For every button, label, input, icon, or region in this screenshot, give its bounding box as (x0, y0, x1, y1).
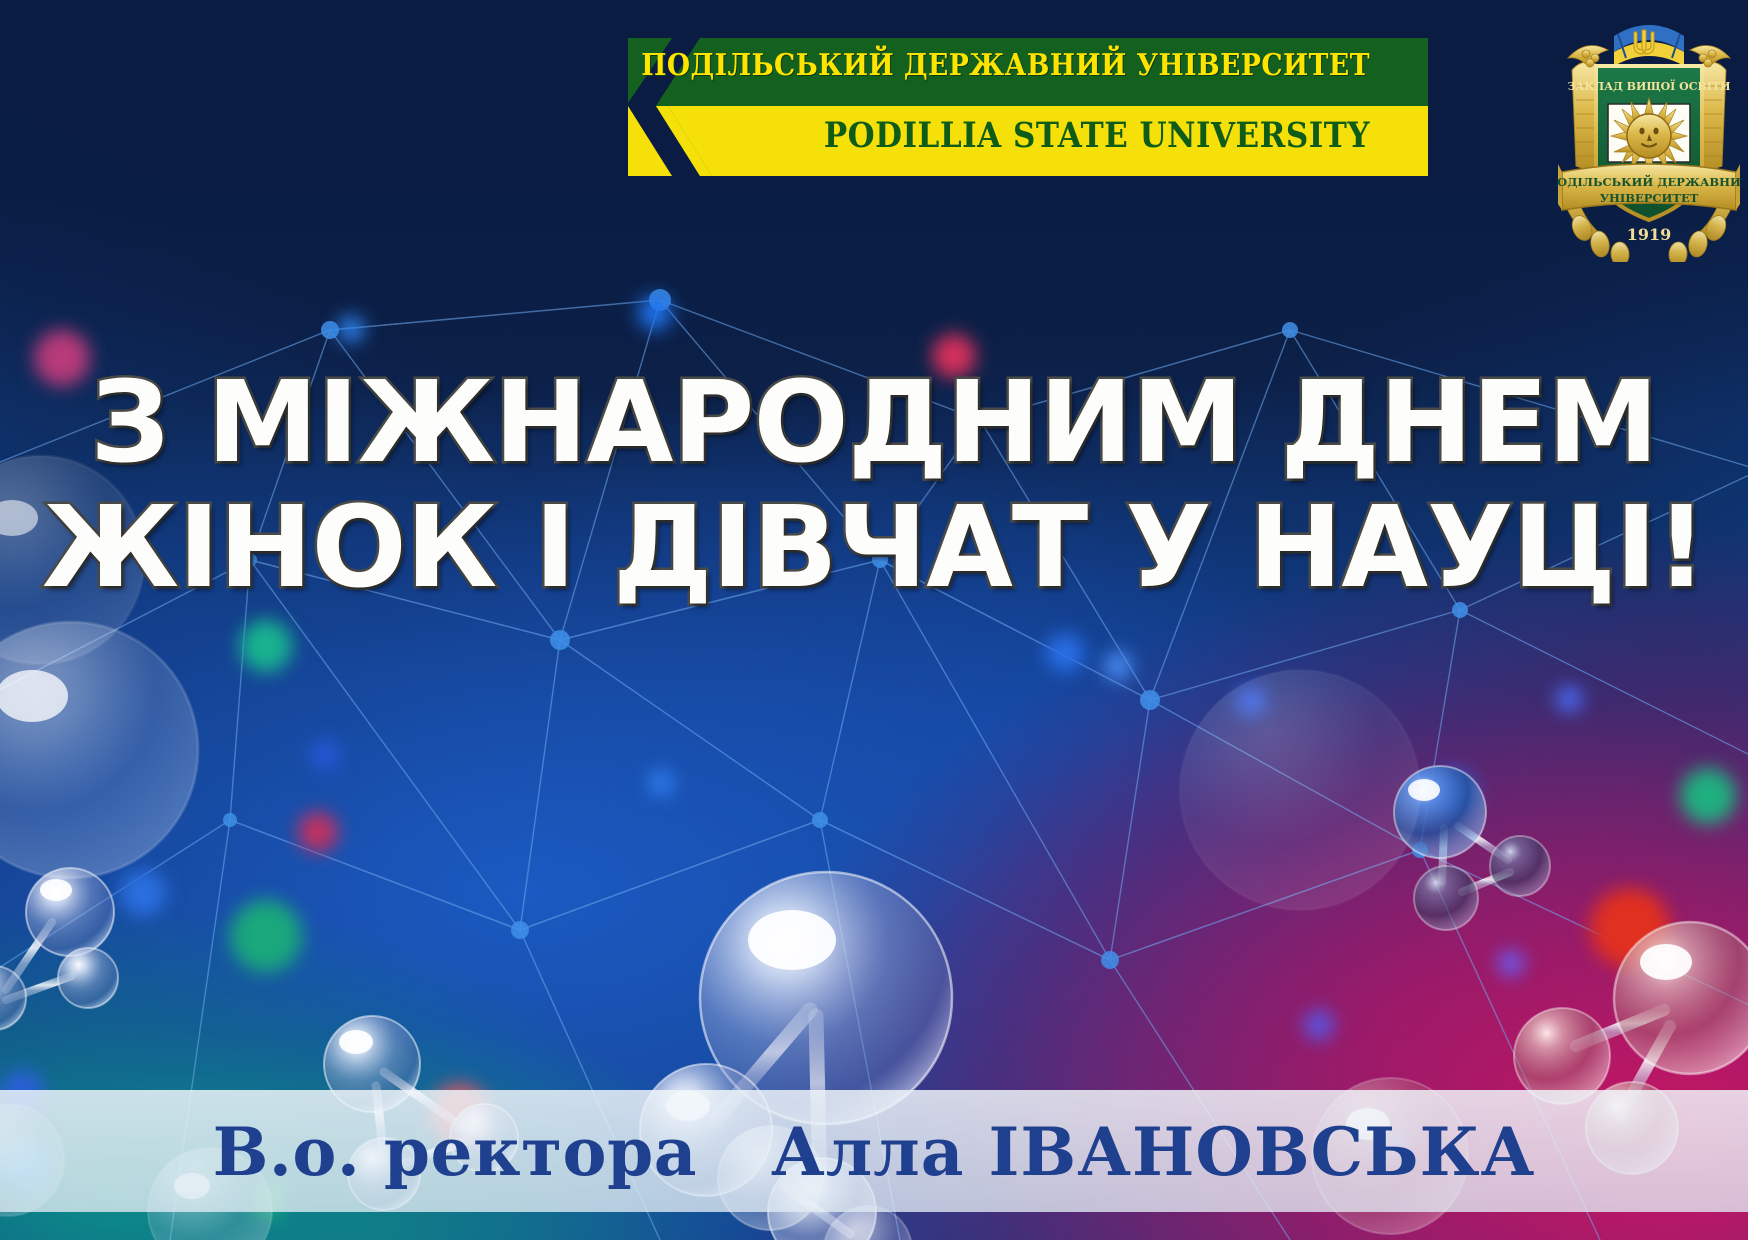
main-headline: З МІЖНАРОДНИМ ДНЕМ ЖІНОК І ДІВЧАТ У НАУЦ… (0, 368, 1748, 604)
university-banner: ПОДІЛЬСЬКИЙ ДЕРЖАВНИЙ УНІВЕРСИТЕТ PODILL… (628, 36, 1428, 176)
bokeh-dot (230, 900, 302, 972)
bokeh-dot (1304, 1010, 1334, 1040)
signature-band (0, 1090, 1748, 1212)
bokeh-dot (638, 296, 672, 330)
bokeh-dot (310, 740, 340, 770)
emblem-motto-text: ЗАКЛАД ВИЩОЇ ОСВІТИ (1567, 79, 1730, 93)
emblem-ribbon-line1: ПОДІЛЬСЬКИЙ ДЕРЖАВНИЙ (1556, 174, 1742, 189)
poster-canvas: ПОДІЛЬСЬКИЙ ДЕРЖАВНИЙ УНІВЕРСИТЕТ PODILL… (0, 0, 1748, 1240)
headline-line-2: ЖІНОК І ДІВЧАТ У НАУЦІ! (38, 493, 1710, 604)
bokeh-dot (338, 316, 364, 342)
bokeh-dot (648, 770, 674, 796)
bubble-right-faint (1160, 640, 1460, 940)
bokeh-dot (1046, 634, 1084, 672)
headline-line-1: З МІЖНАРОДНИМ ДНЕМ (38, 368, 1710, 479)
emblem-ribbon-line2: УНІВЕРСИТЕТ (1600, 191, 1699, 205)
bokeh-dot (1104, 652, 1132, 680)
bokeh-dot (240, 620, 292, 672)
emblem-year: 1919 (1627, 225, 1672, 244)
university-emblem: ЗАКЛАД ВИЩОЇ ОСВІТИ (1556, 14, 1742, 262)
bokeh-dot (298, 812, 338, 852)
bokeh-dot (1680, 768, 1736, 824)
bokeh-dot (1556, 686, 1582, 712)
